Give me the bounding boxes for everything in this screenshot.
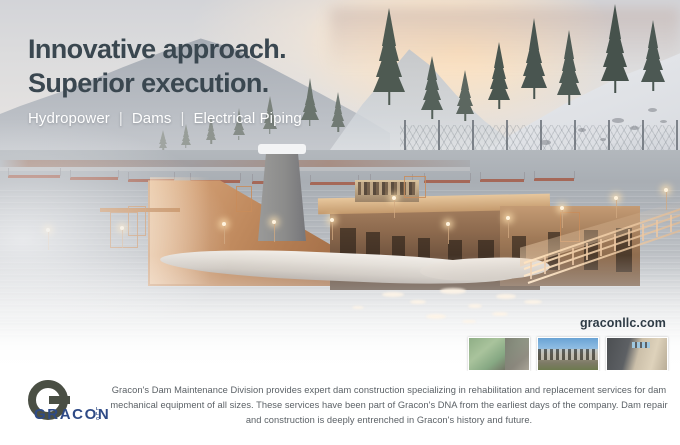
service-separator-1: | (119, 110, 123, 127)
light-post (666, 192, 667, 210)
water-glint (352, 306, 364, 309)
light-post (562, 210, 563, 228)
website-url[interactable]: graconllc.com (580, 316, 666, 330)
boom-segment (480, 179, 524, 182)
gracon-logo[interactable]: GRACON LLC (22, 379, 96, 431)
railing-baluster (642, 224, 644, 241)
water-glint (426, 314, 446, 319)
water-glint (410, 300, 426, 304)
dam-pier-snowcap (258, 144, 306, 154)
railing-baluster (600, 239, 602, 256)
rock (578, 128, 586, 132)
thumbnail-concrete-dam[interactable] (606, 337, 668, 371)
scaffold-frame (404, 176, 426, 198)
hero-photo: Innovative approach. Superior execution.… (0, 0, 680, 375)
water-glint (496, 294, 516, 299)
headline-line-2: Superior execution. (28, 66, 458, 100)
rock (540, 140, 551, 145)
thumbnail-spillway[interactable] (468, 337, 530, 371)
railing-baluster (670, 215, 672, 232)
boom-marker (240, 173, 241, 181)
service-electrical-piping: Electrical Piping (193, 110, 301, 127)
boom-marker (252, 174, 253, 182)
rock (648, 108, 657, 112)
water-glint (462, 320, 476, 323)
boom-marker (480, 172, 481, 180)
footer-description: Gracon's Dam Maintenance Division provid… (110, 379, 668, 428)
water-glint (492, 312, 508, 316)
services-list: Hydropower | Dams | Electrical Piping (28, 110, 302, 127)
water-glint (382, 292, 404, 297)
water-glint (524, 300, 542, 304)
boom-segment (424, 180, 470, 183)
boom-marker (574, 171, 575, 179)
railing-baluster (656, 220, 658, 237)
boom-segment (534, 178, 574, 181)
service-separator-2: | (180, 110, 184, 127)
headline: Innovative approach. Superior execution. (28, 32, 458, 100)
gracon-g-crossbar-icon (49, 396, 70, 404)
service-dams: Dams (132, 110, 172, 127)
thumbnail-gated-dam[interactable] (537, 337, 599, 371)
rock (660, 120, 667, 123)
light-post (274, 224, 275, 242)
service-hydropower: Hydropower (28, 110, 110, 127)
scaffold-frame (236, 186, 252, 212)
light-post (394, 200, 395, 218)
advertisement: Innovative approach. Superior execution.… (0, 0, 680, 445)
boom-marker (470, 173, 471, 181)
railing-baluster (614, 234, 616, 251)
light-post (508, 220, 509, 238)
light-post (616, 200, 617, 218)
light-post (332, 222, 333, 240)
footer: GRACON LLC Gracon's Dam Maintenance Divi… (0, 371, 680, 445)
railing-baluster (628, 229, 630, 246)
light-post (448, 226, 449, 244)
water-glint (468, 304, 482, 308)
rock (630, 126, 639, 130)
rock (612, 118, 624, 123)
boom-marker (524, 172, 525, 180)
boom-segment (310, 182, 358, 185)
headline-line-1: Innovative approach. (28, 32, 458, 66)
rock (600, 138, 606, 141)
boom-marker (534, 171, 535, 179)
water-glint (440, 288, 466, 294)
boom-marker (310, 175, 311, 183)
thumbnail-strip (468, 337, 668, 371)
logo-llc-suffix: LLC (96, 406, 99, 422)
